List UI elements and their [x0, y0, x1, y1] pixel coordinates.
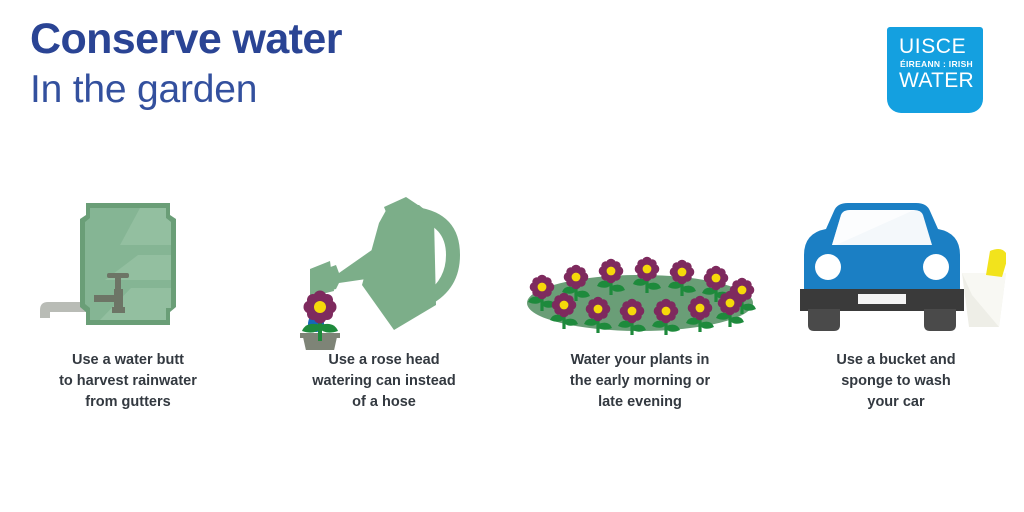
water-butt-illustration — [0, 185, 256, 350]
car-and-bucket-icon — [786, 185, 1006, 350]
panel-row: Use a water butt to harvest rainwater fr… — [0, 185, 1024, 465]
title-line-1: Conserve water — [30, 18, 342, 61]
caption-line: your car — [781, 392, 1011, 413]
panel-caption: Use a bucket and sponge to wash your car — [781, 350, 1011, 413]
watering-can-illustration — [256, 185, 512, 350]
panel-water-butt: Use a water butt to harvest rainwater fr… — [0, 185, 256, 465]
panel-watering-can: Use a rose head watering can instead of … — [256, 185, 512, 465]
watering-can-icon — [284, 185, 484, 350]
water-butt-icon — [28, 185, 228, 350]
logo-top-text: UISCE — [899, 36, 983, 58]
caption-line: Use a rose head — [269, 350, 499, 371]
infographic-poster: Conserve water In the garden UISCE ÉIREA… — [0, 0, 1024, 512]
car-and-bucket-illustration — [768, 185, 1024, 350]
panel-caption: Water your plants in the early morning o… — [525, 350, 755, 413]
licence-plate — [858, 294, 906, 304]
caption-line: Water your plants in — [525, 350, 755, 371]
panel-caption: Use a water butt to harvest rainwater fr… — [13, 350, 243, 413]
panel-car-bucket: Use a bucket and sponge to wash your car — [768, 185, 1024, 465]
headlight-right — [923, 254, 949, 280]
title-line-2: In the garden — [30, 70, 342, 109]
caption-line: late evening — [525, 392, 755, 413]
flower-bed-illustration — [512, 185, 768, 350]
caption-line: watering can instead — [269, 371, 499, 392]
caption-line: Use a bucket and — [781, 350, 1011, 371]
caption-line: of a hose — [269, 392, 499, 413]
headlight-left — [815, 254, 841, 280]
page-title: Conserve water In the garden — [30, 18, 342, 109]
logo-middle-text: ÉIREANN : IRISH — [900, 60, 983, 69]
logo-bottom-text: WATER — [899, 70, 983, 92]
uisce-eireann-irish-water-logo: UISCE ÉIREANN : IRISH WATER — [887, 27, 983, 113]
panel-flower-bed: Water your plants in the early morning o… — [512, 185, 768, 465]
wheel-right — [924, 309, 956, 331]
caption-line: sponge to wash — [781, 371, 1011, 392]
wheel-left — [808, 309, 840, 331]
caption-line: the early morning or — [525, 371, 755, 392]
panel-caption: Use a rose head watering can instead of … — [269, 350, 499, 413]
flower-icon — [304, 291, 337, 324]
caption-line: to harvest rainwater — [13, 371, 243, 392]
caption-line: from gutters — [13, 392, 243, 413]
caption-line: Use a water butt — [13, 350, 243, 371]
sponge — [986, 249, 1006, 277]
flower-bed-icon — [520, 185, 760, 350]
